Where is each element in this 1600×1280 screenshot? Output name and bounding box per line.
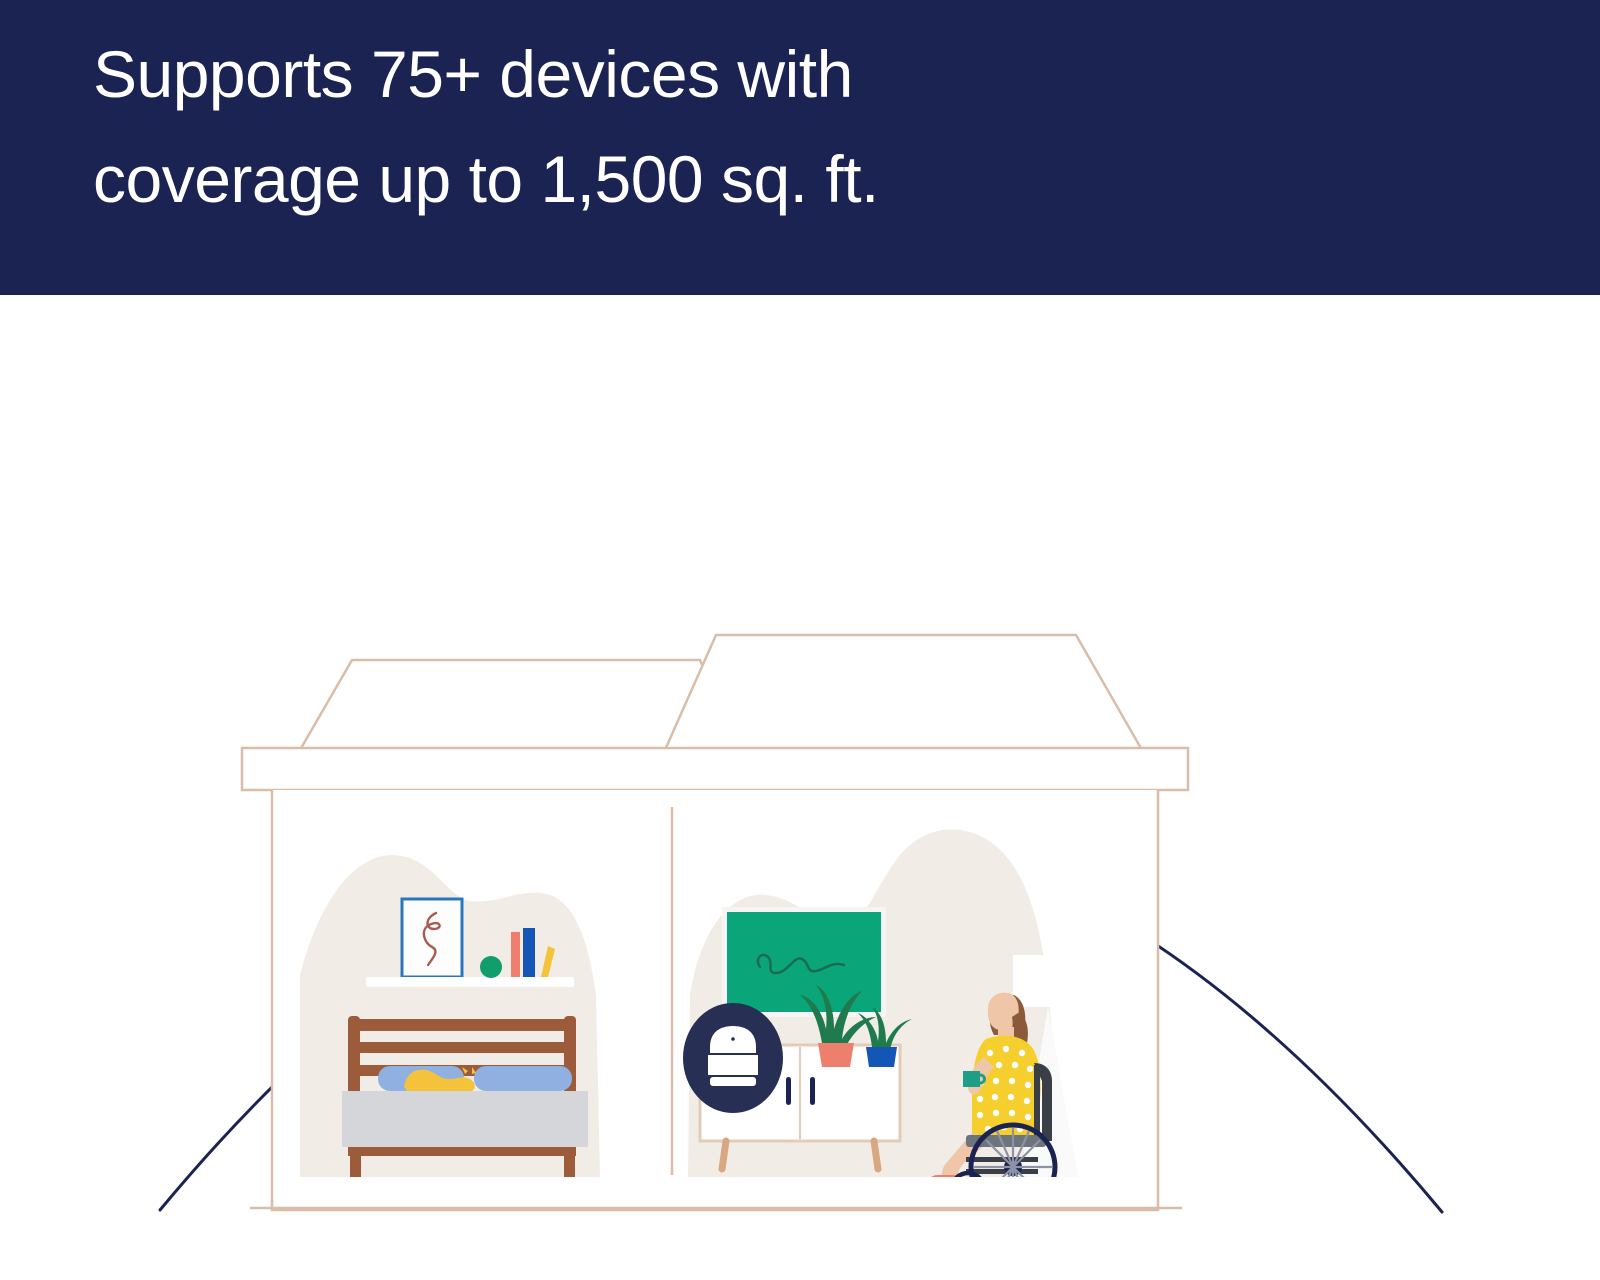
- page-headline: Supports 75+ devices with coverage up to…: [93, 22, 1273, 232]
- bed-headboard-rail-1: [356, 1019, 570, 1031]
- green-ball-decor: [480, 956, 502, 978]
- plant-pot-coral: [818, 1043, 854, 1067]
- bed-headboard-rail-2: [356, 1042, 570, 1053]
- bed-base-rail: [348, 1147, 576, 1156]
- sideboard-leg-right: [874, 1141, 878, 1169]
- book-blue: [523, 928, 535, 977]
- wall-shelf: [366, 977, 574, 987]
- promo-page: Supports 75+ devices with coverage up to…: [0, 0, 1600, 1280]
- house-coverage-illustration: [0, 295, 1600, 1280]
- mesh-router-device: [683, 1003, 783, 1113]
- sideboard-leg-left: [722, 1141, 726, 1169]
- router-led-icon: [731, 1037, 735, 1041]
- bedroom-scene: [300, 855, 602, 1199]
- framed-wall-art: [402, 899, 462, 977]
- coffee-mug: [963, 1071, 980, 1087]
- ceiling-beam: [242, 748, 1188, 790]
- roof-right-section: [665, 635, 1142, 750]
- wheelchair-crossbar: [966, 1157, 1038, 1162]
- book-coral: [511, 932, 520, 977]
- illustration-stage: [0, 295, 1600, 1280]
- sideboard-handle-left: [786, 1077, 791, 1105]
- header-banner: Supports 75+ devices with coverage up to…: [0, 0, 1600, 295]
- lamp-shade: [1013, 955, 1083, 1007]
- router-body-base: [710, 1077, 756, 1086]
- pillow-right: [474, 1066, 572, 1091]
- bed-blanket: [342, 1091, 588, 1147]
- router-body-mid: [708, 1055, 758, 1075]
- sideboard-handle-right: [810, 1077, 815, 1105]
- plant-pot-blue: [866, 1047, 897, 1067]
